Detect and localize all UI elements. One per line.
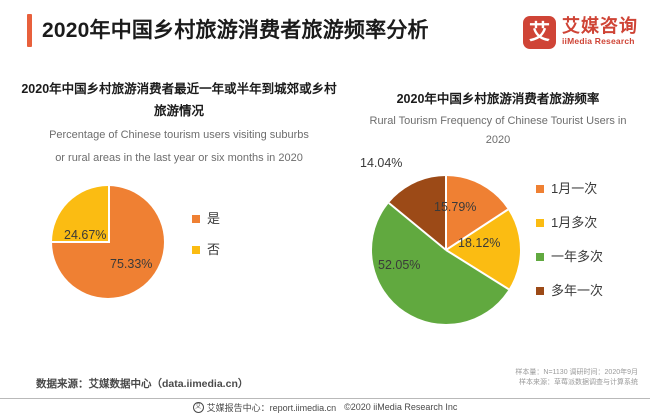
- sample-info: 样本量：N=1130 调研时间：2020年9月 样本来源：草莓派数据调查与计算系…: [515, 368, 638, 388]
- legend-label-yearly-many: 一年多次: [551, 250, 603, 263]
- logo-mark-icon: 艾: [523, 16, 556, 49]
- left-chart-title-cn: 2020年中国乡村旅游消费者最近一年或半年到城郊或乡村旅游情况: [14, 78, 344, 122]
- legend-swatch-icon-yearly-many: [536, 253, 544, 261]
- left-pie-chart: 24.67% 75.33% 是 否: [14, 168, 344, 318]
- logo-text: 艾媒咨询 iiMedia Research: [562, 17, 638, 47]
- legend-item-monthly-many[interactable]: 1月多次: [536, 216, 603, 229]
- legend-swatch-icon-multiyear-once: [536, 287, 544, 295]
- left-slice-label-no: 24.67%: [64, 228, 106, 242]
- legend-label-yes: 是: [207, 212, 220, 225]
- legend-swatch-icon-no: [192, 246, 200, 254]
- sample-info-line2: 样本来源：草莓派数据调查与计算系统: [515, 378, 638, 388]
- legend-item-yes[interactable]: 是: [192, 212, 220, 225]
- left-chart-legend: 是 否: [192, 212, 220, 274]
- legend-swatch-icon-monthly-many: [536, 219, 544, 227]
- legend-item-no[interactable]: 否: [192, 243, 220, 256]
- right-slice-label-monthly-once: 15.79%: [434, 200, 476, 214]
- footer-report-center[interactable]: 艾媒报告中心：report.iimedia.cn: [207, 401, 337, 414]
- left-chart-subtitle-line2: or rural areas in the last year or six m…: [14, 149, 344, 168]
- right-pie-graphic: [372, 176, 520, 324]
- legend-label-monthly-many: 1月多次: [551, 216, 597, 229]
- data-source-note: 数据来源：艾媒数据中心（data.iimedia.cn）: [36, 376, 248, 391]
- right-slice-label-monthly-many: 18.12%: [458, 236, 500, 250]
- page-title: 2020年中国乡村旅游消费者旅游频率分析: [42, 14, 429, 47]
- right-pie-divider-3: [445, 249, 509, 290]
- iimedia-logo: 艾 艾媒咨询 iiMedia Research: [523, 14, 638, 50]
- legend-item-multiyear-once[interactable]: 多年一次: [536, 284, 603, 297]
- legend-item-monthly-once[interactable]: 1月一次: [536, 182, 603, 195]
- left-slice-label-yes: 75.33%: [110, 257, 152, 271]
- page-header: 2020年中国乡村旅游消费者旅游频率分析 艾 艾媒咨询 iiMedia Rese…: [0, 0, 650, 62]
- left-pie-divider-top: [108, 186, 110, 243]
- right-slice-label-multiyear-once: 14.04%: [360, 156, 402, 170]
- left-chart-panel: 2020年中国乡村旅游消费者最近一年或半年到城郊或乡村旅游情况 Percenta…: [14, 78, 344, 318]
- right-chart-panel: 2020年中国乡村旅游消费者旅游频率 Rural Tourism Frequen…: [352, 78, 644, 345]
- right-chart-subtitle: Rural Tourism Frequency of Chinese Touri…: [352, 112, 644, 150]
- logo-name-en: iiMedia Research: [562, 36, 638, 47]
- legend-label-multiyear-once: 多年一次: [551, 284, 603, 297]
- legend-item-yearly-many[interactable]: 一年多次: [536, 250, 603, 263]
- legend-swatch-icon-monthly-once: [536, 185, 544, 193]
- title-accent-bar: [27, 14, 32, 47]
- right-slice-label-yearly-many: 52.05%: [378, 258, 420, 272]
- right-pie-chart: 15.79% 18.12% 52.05% 14.04% 1月一次 1月多次 一年…: [352, 150, 644, 345]
- logo-name-cn: 艾媒咨询: [562, 17, 638, 36]
- legend-label-no: 否: [207, 243, 220, 256]
- right-chart-title-cn: 2020年中国乡村旅游消费者旅游频率: [352, 78, 644, 110]
- legend-label-monthly-once: 1月一次: [551, 182, 597, 195]
- right-chart-legend: 1月一次 1月多次 一年多次 多年一次: [536, 182, 603, 318]
- footer-badge-icon: 艾: [193, 402, 204, 413]
- sample-info-line1: 样本量：N=1130 调研时间：2020年9月: [515, 368, 638, 378]
- left-chart-subtitle-line1: Percentage of Chinese tourism users visi…: [14, 126, 344, 145]
- footer-copyright: ©2020 iiMedia Research Inc: [344, 402, 457, 412]
- footer-bar: 艾 艾媒报告中心：report.iimedia.cn ©2020 iiMedia…: [0, 399, 650, 415]
- legend-swatch-icon-yes: [192, 215, 200, 223]
